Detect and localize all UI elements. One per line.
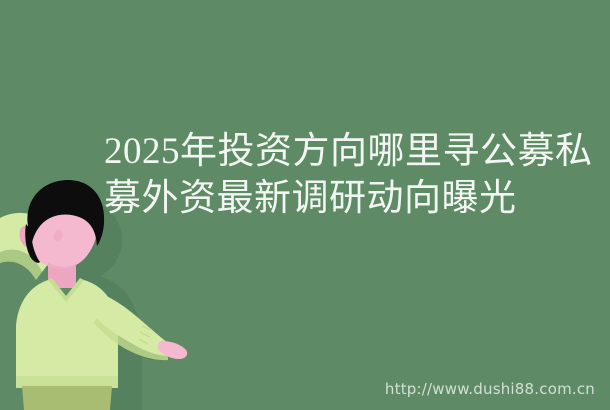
watermark-url: http://www.dushi88.com.cn [385,380,595,398]
title-line-2: 募外资最新调研动向曝光 [104,175,556,222]
title-line-1: 2025年投资方向哪里寻公募私 [104,128,556,175]
cover-title: 2025年投资方向哪里寻公募私 募外资最新调研动向曝光 [104,128,556,222]
article-cover-banner: 2025年投资方向哪里寻公募私 募外资最新调研动向曝光 http://www.d… [0,0,610,410]
pants [22,386,112,410]
